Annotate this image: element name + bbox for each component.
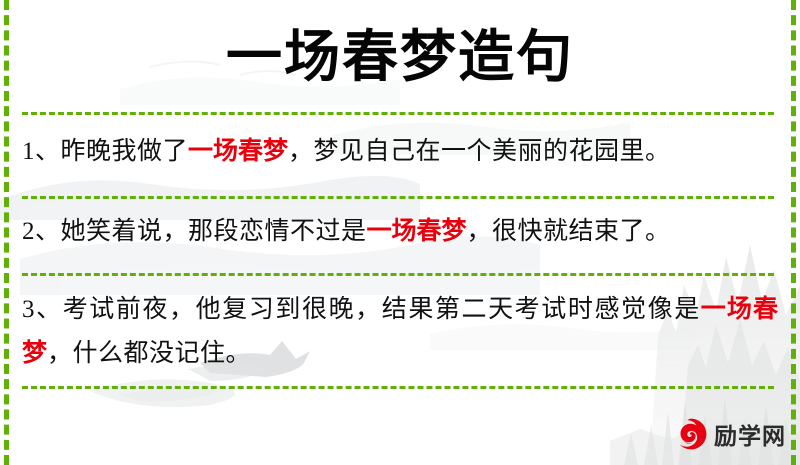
sentence-3-after: ，什么都没记住。 [47, 340, 251, 367]
divider-below-title [22, 112, 774, 115]
page-title: 一场春梦造句 [0, 18, 800, 96]
divider-after-sentence-2 [22, 273, 774, 276]
sentence-item-2: 2、她笑着说，那段恋情不过是一场春梦，很快就结束了。 [22, 210, 778, 254]
site-logo-text: 励学网 [714, 417, 786, 451]
sentence-1-index: 1、 [22, 138, 61, 165]
sentence-2-highlight: 一场春梦 [367, 218, 467, 245]
sentence-1-after: ，梦见自己在一个美丽的花园里。 [288, 138, 671, 165]
sentence-2-before: 她笑着说，那段恋情不过是 [61, 218, 367, 245]
sentence-2-index: 2、 [22, 218, 61, 245]
divider-after-sentence-3 [22, 386, 774, 389]
sentence-item-1: 1、昨晚我做了一场春梦，梦见自己在一个美丽的花园里。 [22, 130, 778, 174]
sentence-item-3: 3、考试前夜，他复习到很晚，结果第二天考试时感觉像是一场春梦，什么都没记住。 [22, 288, 778, 376]
red-swirl-phoenix-icon [674, 417, 708, 451]
sentence-3-index: 3、 [22, 296, 63, 323]
sentence-1-before: 昨晚我做了 [61, 138, 189, 165]
document-page: 一场春梦造句 1、昨晚我做了一场春梦，梦见自己在一个美丽的花园里。 2、她笑着说… [0, 0, 800, 465]
site-logo[interactable]: 励学网 [674, 415, 786, 453]
sentence-2-after: ，很快就结束了。 [467, 218, 671, 245]
sentence-1-highlight: 一场春梦 [188, 138, 288, 165]
sentence-3-before: 考试前夜，他复习到很晚，结果第二天考试时感觉像是 [63, 296, 701, 323]
divider-after-sentence-1 [22, 196, 774, 199]
